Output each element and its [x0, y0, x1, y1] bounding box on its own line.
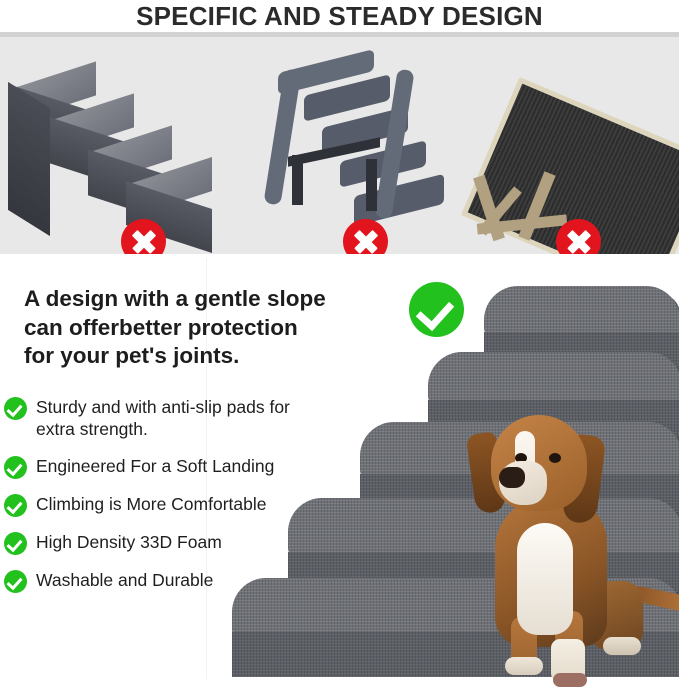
- product-image-plastic-stairs: [248, 55, 453, 247]
- green-check-icon: [4, 494, 27, 517]
- caption-not-easy-to-climb: Not Easy To Climb: [196, 252, 336, 254]
- green-check-icon: [4, 456, 27, 479]
- green-check-icon: [409, 282, 464, 337]
- pet-photo-dog: [455, 405, 679, 679]
- feature-text: High Density 33D Foam: [36, 531, 222, 553]
- product-image-wooden-ramp: [455, 59, 675, 249]
- page-title: SPECIFIC AND STEADY DESIGN: [136, 1, 543, 32]
- green-check-icon: [4, 532, 27, 555]
- comparison-panel: Not Easy To Climb Slippery Easy To Fall: [0, 32, 679, 254]
- page-title-bar: SPECIFIC AND STEADY DESIGN: [0, 0, 679, 32]
- product-image-foam-stairs: [4, 57, 234, 247]
- caption-slippery-easy-to-fall: Slippery Easy To Fall: [408, 252, 566, 254]
- green-check-icon: [4, 397, 27, 420]
- feature-text: Washable and Durable: [36, 569, 213, 591]
- green-check-icon: [4, 570, 27, 593]
